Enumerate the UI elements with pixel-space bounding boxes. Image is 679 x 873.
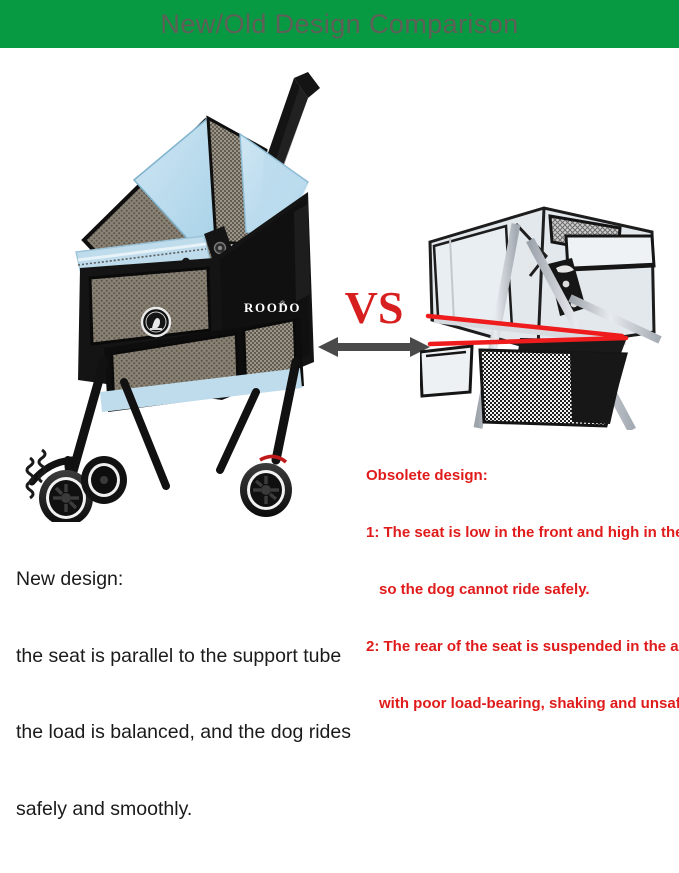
page-title: New/Old Design Comparison [0,0,679,48]
double-headed-horizontal-arrow-icon [318,336,430,358]
obsolete-item-2-line-2: with poor load-bearing, shaking and unsa… [366,694,676,713]
header-banner: New/Old Design Comparison [0,0,679,48]
obsolete-lower-basket [420,338,626,426]
new-design-line-3: safely and smoothly. [16,797,364,823]
dog-emblem-badge [142,308,170,336]
obsolete-design-heading: Obsolete design: [366,466,676,485]
new-design-product-image: ROODO ® [8,62,338,522]
brand-wordmark: ROODO [244,300,301,315]
rear-wheel-pair [240,456,292,517]
obsolete-item-1-line-1: 1: The seat is low in the front and high… [366,523,676,542]
obsolete-design-caption: Obsolete design: 1: The seat is low in t… [366,428,676,751]
versus-label: VS [318,282,430,334]
comparison-infographic: New/Old Design Comparison [0,0,679,659]
new-design-caption: New design: the seat is parallel to the … [16,516,364,873]
obsolete-item-1-line-2: so the dog cannot ride safely. [366,580,676,599]
new-design-heading: New design: [16,567,364,593]
new-design-line-2: the load is balanced, and the dog rides [16,720,364,746]
svg-text:®: ® [280,300,286,308]
versus-block: VS [318,282,430,362]
obsolete-design-product-image [420,180,679,430]
new-design-line-1: the seat is parallel to the support tube [16,644,364,670]
obsolete-item-2-line-1: 2: The rear of the seat is suspended in … [366,637,676,656]
